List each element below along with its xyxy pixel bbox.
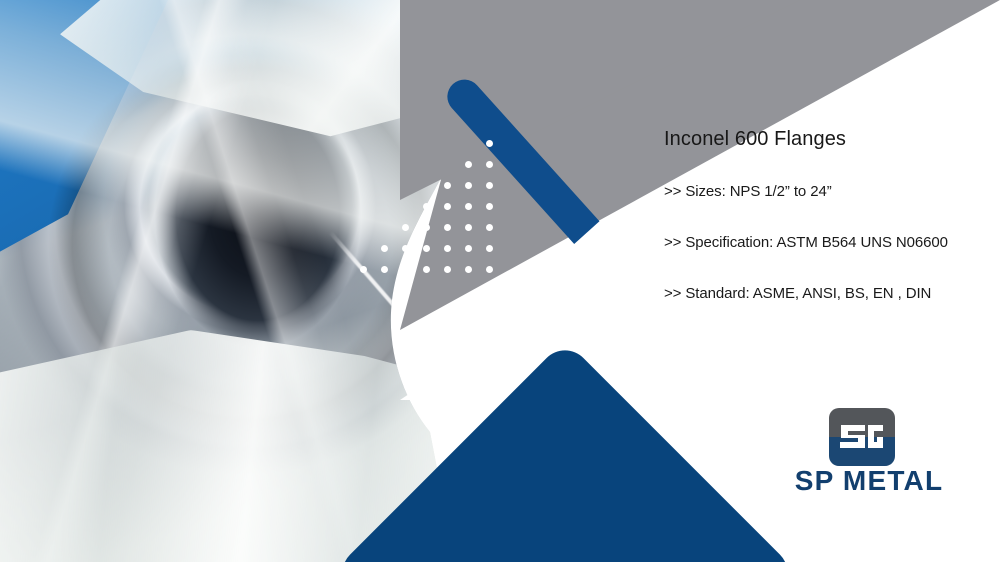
pattern-dot (423, 203, 430, 210)
pattern-dot (465, 182, 472, 189)
pattern-dot (423, 224, 430, 231)
pattern-dot (444, 245, 451, 252)
pattern-dot (402, 266, 409, 273)
pattern-dot (423, 245, 430, 252)
pattern-dot (381, 245, 388, 252)
pattern-dot (360, 266, 367, 273)
pattern-dot (381, 266, 388, 273)
pattern-dot (423, 266, 430, 273)
dot-pattern (430, 136, 540, 276)
spec-line-standard: >> Standard: ASME, ANSI, BS, EN , DIN (664, 285, 994, 302)
pattern-dot (402, 245, 409, 252)
spec-line-sizes: >> Sizes: NPS 1/2” to 24” (664, 183, 994, 200)
spec-line-specification: >> Specification: ASTM B564 UNS N06600 (664, 234, 994, 251)
pattern-dot (402, 224, 409, 231)
text-column: Inconel 600 Flanges >> Sizes: NPS 1/2” t… (664, 128, 994, 302)
pattern-dot (444, 182, 451, 189)
pattern-dot (486, 161, 493, 168)
page-title: Inconel 600 Flanges (664, 128, 994, 151)
pattern-dot (486, 245, 493, 252)
pattern-dot (465, 161, 472, 168)
sp-metal-wordmark: SP METAL (783, 466, 955, 496)
product-banner: Inconel 600 Flanges >> Sizes: NPS 1/2” t… (0, 0, 1000, 562)
pattern-dot (486, 203, 493, 210)
pattern-dot (486, 266, 493, 273)
pattern-dot (486, 140, 493, 147)
pattern-dot (444, 266, 451, 273)
pattern-dot (486, 224, 493, 231)
pattern-dot (465, 266, 472, 273)
pattern-dot (465, 224, 472, 231)
sp-metal-mark-icon (829, 408, 895, 466)
pattern-dot (465, 203, 472, 210)
pattern-dot (465, 245, 472, 252)
pattern-dot (486, 182, 493, 189)
pattern-dot (444, 224, 451, 231)
pattern-dot (444, 203, 451, 210)
company-logo: SP METAL (783, 408, 955, 496)
